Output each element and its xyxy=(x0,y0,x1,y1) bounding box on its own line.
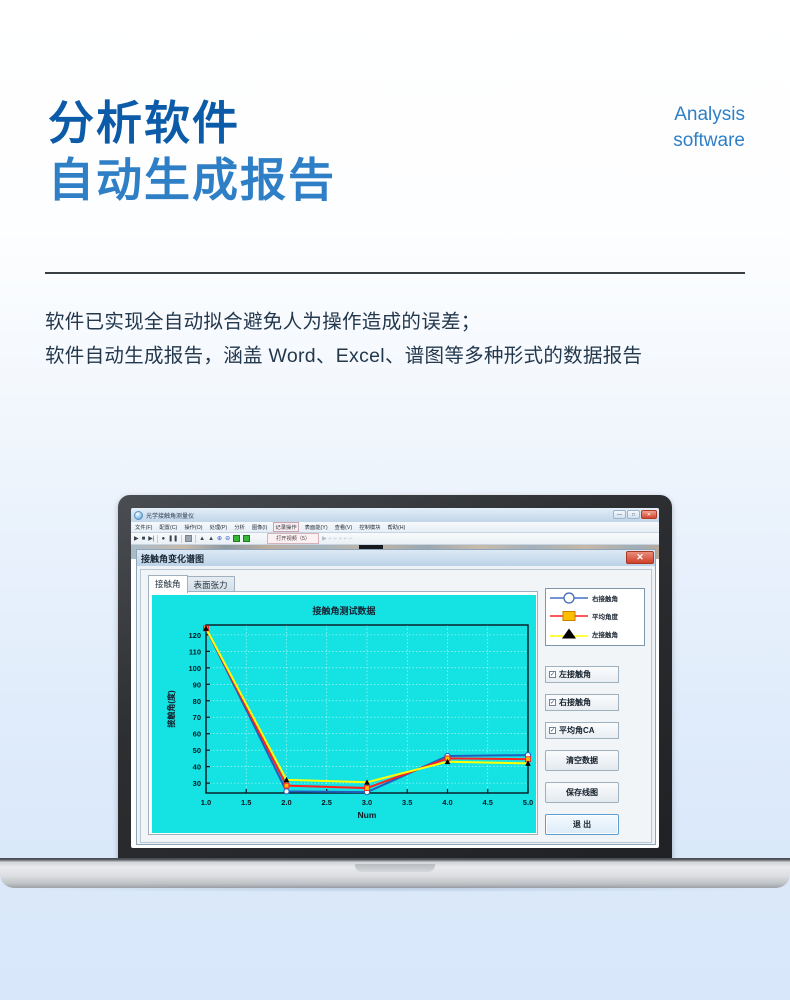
laptop-lid: 光学接触角测量仪 — □ ✕ 文件(F) 配置(C) 操作(O) 处理(P) 分… xyxy=(118,495,672,863)
zoom-in-icon[interactable]: ⊕ xyxy=(217,536,222,542)
dialog-title: 接触角变化谱图 xyxy=(141,552,204,565)
toolbar-separator-3 xyxy=(195,535,196,543)
svg-text:5.0: 5.0 xyxy=(523,798,533,807)
checkbox-icon[interactable]: ✓ xyxy=(549,699,556,706)
svg-text:90: 90 xyxy=(193,680,201,689)
menu-item-process[interactable]: 处理(P) xyxy=(209,523,229,531)
legend-item-right-angle: 右接触角 xyxy=(546,589,644,607)
exit-button[interactable]: 退 出 xyxy=(545,814,619,835)
menu-item-analysis[interactable]: 分析 xyxy=(233,523,246,531)
laptop-screen: 光学接触角测量仪 — □ ✕ 文件(F) 配置(C) 操作(O) 处理(P) 分… xyxy=(131,508,659,848)
legend-item-average-angle: 平均角度 xyxy=(546,607,644,625)
description-line-1: 软件已实现全自动拟合避免人为操作造成的误差； xyxy=(45,305,642,339)
green-module-1-icon[interactable] xyxy=(233,535,240,542)
record-icon[interactable]: ● xyxy=(161,536,165,542)
up-arrow-2-icon[interactable]: ▲ xyxy=(208,536,214,542)
menu-item-help[interactable]: 帮助(H) xyxy=(386,523,406,531)
svg-text:1.0: 1.0 xyxy=(201,798,211,807)
menu-item-operation[interactable]: 操作(O) xyxy=(183,523,203,531)
play-icon[interactable]: ▶ xyxy=(134,536,139,542)
laptop-notch xyxy=(355,864,435,872)
page-title: 分析软件 自动生成报告 xyxy=(48,95,336,209)
camera-icon[interactable]: ▶| xyxy=(148,536,154,542)
english-line-2: software xyxy=(673,128,745,154)
dialog-titlebar: 接触角变化谱图 xyxy=(137,550,655,566)
up-arrow-1-icon[interactable]: ▲ xyxy=(199,536,205,542)
menu-item-view[interactable]: 查看(V) xyxy=(334,523,354,531)
svg-text:40: 40 xyxy=(193,763,201,772)
contact-angle-line-chart: 304050607080901001101201.01.52.02.53.03.… xyxy=(152,595,536,833)
menu-item-image[interactable]: 图像(I) xyxy=(251,523,269,531)
minimize-button[interactable]: — xyxy=(613,510,626,519)
svg-text:2.5: 2.5 xyxy=(322,798,332,807)
svg-text:2.0: 2.0 xyxy=(281,798,291,807)
svg-text:接触角(度): 接触角(度) xyxy=(166,690,176,728)
laptop-base xyxy=(0,858,790,888)
svg-text:80: 80 xyxy=(193,697,201,706)
legend-label-left-angle: 左接触角 xyxy=(592,629,618,639)
disabled-toolbar-icons: ▶ ⌐ ⌐ ⌐ ⌐ ⌐ xyxy=(322,535,352,542)
legend-item-left-angle: 左接触角 xyxy=(546,625,644,643)
checkbox-icon[interactable]: ✓ xyxy=(549,671,556,678)
app-titlebar: 光学接触角测量仪 — □ ✕ xyxy=(131,508,659,522)
tab-contact-angle[interactable]: 接触角 xyxy=(148,575,188,593)
svg-text:70: 70 xyxy=(193,713,201,722)
dialog-close-button[interactable]: ✕ xyxy=(626,551,654,564)
green-module-2-icon[interactable] xyxy=(243,535,250,542)
menu-item-control-module[interactable]: 控制模块 xyxy=(358,523,381,531)
svg-text:4.0: 4.0 xyxy=(442,798,452,807)
zoom-out-icon[interactable]: ⊖ xyxy=(225,536,230,542)
close-button[interactable]: ✕ xyxy=(641,510,657,519)
svg-text:100: 100 xyxy=(188,664,201,673)
application-window: 光学接触角测量仪 — □ ✕ 文件(F) 配置(C) 操作(O) 处理(P) 分… xyxy=(131,508,659,848)
open-video-button[interactable]: 打开视频（5） xyxy=(267,533,319,544)
svg-text:30: 30 xyxy=(193,779,201,788)
svg-text:3.0: 3.0 xyxy=(362,798,372,807)
app-window-title: 光学接触角测量仪 xyxy=(146,511,194,520)
save-chart-button[interactable]: 保存线图 xyxy=(545,782,619,803)
svg-text:Num: Num xyxy=(358,810,377,820)
menu-item-file[interactable]: 文件(F) xyxy=(134,523,153,531)
laptop-shadow xyxy=(30,886,760,892)
checkbox-right-contact-angle[interactable]: ✓ 右接触角 xyxy=(545,694,619,711)
app-toolbar: ▶ ■ ▶| ● ❚❚ ▲ ▲ ⊕ ⊖ 打开视频（5） ▶ ⌐ ⌐ xyxy=(131,533,659,545)
dialog-body: 接触角 表面张力 接触角测试数据 30405060708090100110120… xyxy=(140,569,652,843)
description-line-2: 软件自动生成报告，涵盖 Word、Excel、谱图等多种形式的数据报告 xyxy=(45,339,642,373)
menu-item-surface-energy[interactable]: 表面能(Y) xyxy=(304,523,329,531)
title-line-2: 自动生成报告 xyxy=(48,151,336,209)
chart-legend: 右接触角 平均角度 xyxy=(545,588,645,646)
chart-panel: 接触角测试数据 304050607080901001101201.01.52.0… xyxy=(148,591,538,835)
checkbox-left-contact-angle[interactable]: ✓ 左接触角 xyxy=(545,666,619,683)
svg-text:50: 50 xyxy=(193,746,201,755)
svg-text:120: 120 xyxy=(188,631,201,640)
legend-label-right-angle: 右接触角 xyxy=(592,593,618,603)
toolbar-separator-2 xyxy=(181,535,182,543)
menu-item-config[interactable]: 配置(C) xyxy=(158,523,178,531)
maximize-button[interactable]: □ xyxy=(627,510,640,519)
svg-text:3.5: 3.5 xyxy=(402,798,412,807)
legend-triangle-icon xyxy=(549,627,589,641)
menu-item-record[interactable]: 记录操作 xyxy=(273,522,298,532)
app-logo-icon xyxy=(134,511,143,520)
pause-icon[interactable]: ❚❚ xyxy=(168,536,178,542)
toolbar-separator-1 xyxy=(157,535,158,543)
english-subtitle: Analysis software xyxy=(673,102,745,154)
svg-text:110: 110 xyxy=(189,647,201,656)
legend-square-icon xyxy=(549,609,589,623)
clear-data-button[interactable]: 清空数据 xyxy=(545,750,619,771)
header-divider xyxy=(45,272,745,274)
laptop-mockup: 光学接触角测量仪 — □ ✕ 文件(F) 配置(C) 操作(O) 处理(P) 分… xyxy=(0,495,790,915)
chart-area: 接触角测试数据 304050607080901001101201.01.52.0… xyxy=(152,595,536,833)
svg-text:4.5: 4.5 xyxy=(483,798,493,807)
app-menubar: 文件(F) 配置(C) 操作(O) 处理(P) 分析 图像(I) 记录操作 表面… xyxy=(131,522,659,533)
window-controls: — □ ✕ xyxy=(613,510,657,519)
checkbox-icon[interactable]: ✓ xyxy=(549,727,556,734)
checkbox-average-ca[interactable]: ✓ 平均角CA xyxy=(545,722,619,739)
svg-text:1.5: 1.5 xyxy=(241,798,251,807)
checkbox-label-left: 左接触角 xyxy=(559,669,591,680)
stop-icon[interactable]: ■ xyxy=(142,536,146,542)
english-line-1: Analysis xyxy=(673,102,745,128)
checkbox-label-average: 平均角CA xyxy=(559,725,595,736)
checkbox-label-right: 右接触角 xyxy=(559,697,591,708)
description-text: 软件已实现全自动拟合避免人为操作造成的误差； 软件自动生成报告，涵盖 Word、… xyxy=(45,305,642,373)
frame-icon[interactable] xyxy=(185,535,192,542)
contact-angle-dialog: 接触角变化谱图 ✕ 接触角 表面张力 接触角测试数据 xyxy=(136,549,656,845)
legend-circle-icon xyxy=(549,591,589,605)
dialog-controls: ✓ 左接触角 ✓ 右接触角 ✓ 平均角CA 清空数据 xyxy=(545,666,645,846)
legend-label-average-angle: 平均角度 xyxy=(592,611,618,621)
svg-text:60: 60 xyxy=(193,730,201,739)
title-line-1: 分析软件 xyxy=(48,95,336,151)
